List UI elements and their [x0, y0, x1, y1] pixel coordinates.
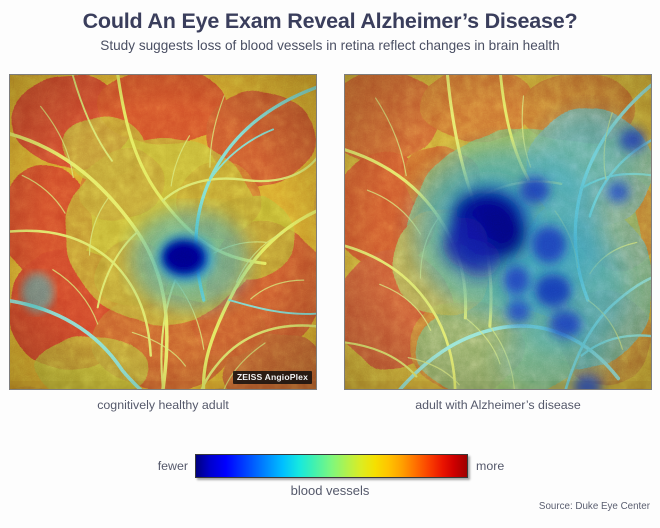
scan-image-healthy	[10, 75, 316, 389]
octa-render-healthy	[10, 75, 316, 389]
legend-title: blood vessels	[0, 483, 660, 498]
page-title: Could An Eye Exam Reveal Alzheimer’s Dis…	[0, 8, 660, 34]
infographic-root: Could An Eye Exam Reveal Alzheimer’s Dis…	[0, 0, 660, 528]
legend-colorbar	[195, 454, 468, 478]
page-subtitle: Study suggests loss of blood vessels in …	[0, 37, 660, 55]
legend-high-label: more	[476, 459, 546, 473]
retina-scan-healthy: ZEISS AngioPlex	[9, 74, 317, 390]
scan-image-alzheimers	[345, 75, 651, 389]
legend-low-label: fewer	[120, 459, 188, 473]
retina-scan-alzheimers	[344, 74, 652, 390]
zeiss-angioplex-watermark: ZEISS AngioPlex	[233, 371, 312, 385]
caption-healthy: cognitively healthy adult	[9, 398, 317, 412]
caption-alzheimers: adult with Alzheimer’s disease	[344, 398, 652, 412]
source-credit: Source: Duke Eye Center	[539, 501, 650, 512]
octa-render-alzheimers	[345, 75, 651, 389]
